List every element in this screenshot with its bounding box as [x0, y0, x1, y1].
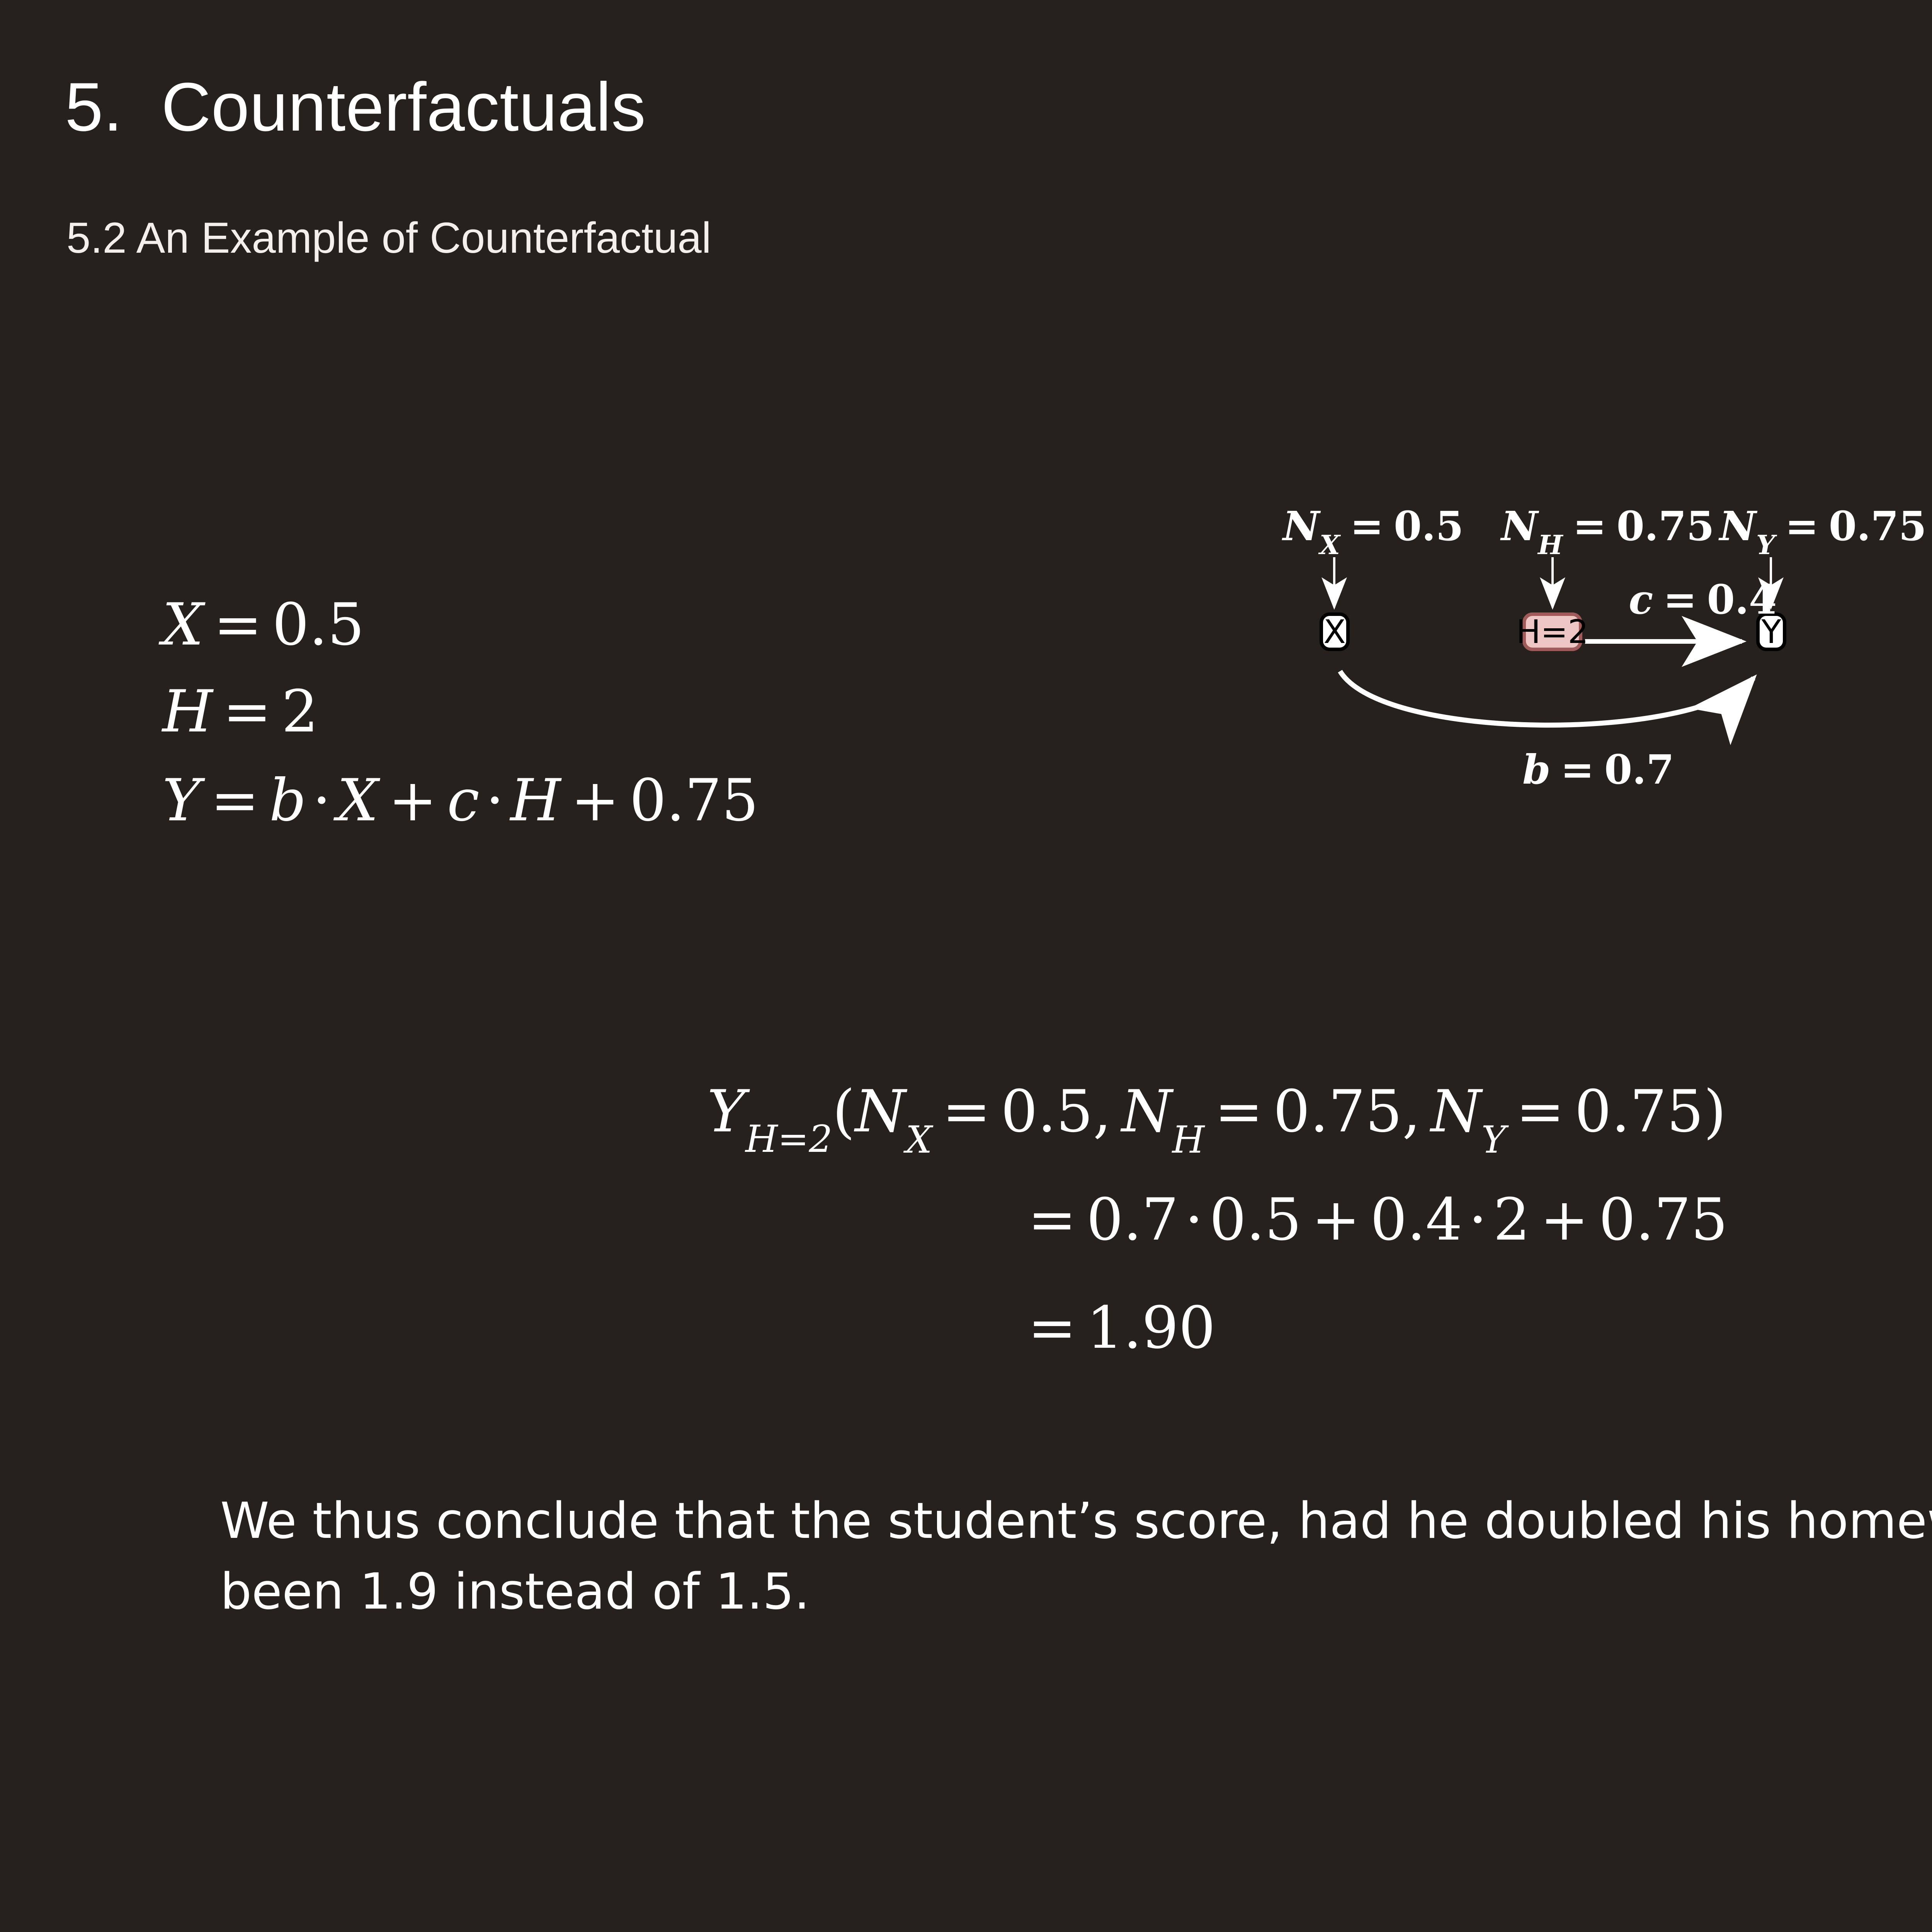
graph-node-x[interactable]: X	[1320, 612, 1350, 651]
page-title: 5. Counterfactuals	[65, 73, 646, 141]
counterfactual-expression: YH=2(NX=0.5,NH=0.75,NY=0.75)	[707, 1078, 1726, 1152]
conclusion-text: We thus conclude that the student’s scor…	[220, 1486, 1932, 1627]
page-subtitle: 5.2 An Example of Counterfactual	[66, 216, 711, 260]
equation-y: Y=b·X+c·H+0.75	[162, 767, 759, 834]
graph-node-h[interactable]: H=2	[1522, 612, 1582, 651]
counterfactual-substitution: =0.7·0.5+0.4·2+0.75	[1028, 1186, 1728, 1253]
equation-h: H=2	[162, 678, 318, 745]
edge-label-b: b=0.7	[1522, 746, 1674, 793]
graph-node-h-label: H=2	[1516, 613, 1588, 651]
edge-label-c: c=0.4	[1629, 576, 1777, 623]
equation-x: X=0.5	[162, 591, 364, 658]
graph-node-x-label: X	[1323, 613, 1346, 651]
causal-graph: NX=0.5 NH=0.75 NY=0.75 X H=2 Y c=0.4	[1256, 502, 1932, 1012]
edge-x-to-y	[1340, 671, 1753, 725]
counterfactual-result: =1.90	[1028, 1294, 1216, 1362]
